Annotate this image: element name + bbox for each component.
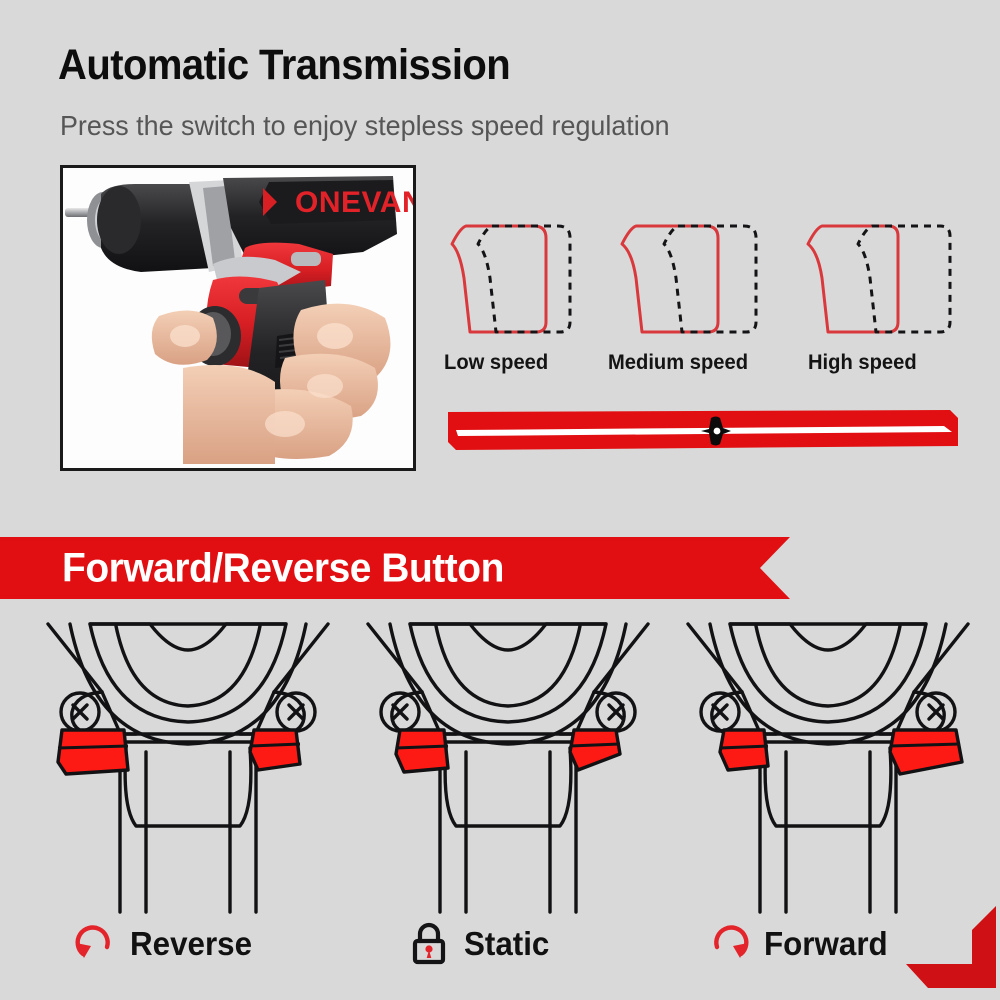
speed-label-low: Low speed xyxy=(444,352,548,373)
tool-diagram-reverse xyxy=(28,612,348,922)
legend-label-static: Static xyxy=(464,927,549,960)
trigger-diagram-medium xyxy=(610,218,780,348)
legend-label-reverse: Reverse xyxy=(130,927,252,960)
speed-label-high: High speed xyxy=(808,352,917,373)
speed-label-medium: Medium speed xyxy=(608,352,748,373)
direction-button-left xyxy=(720,730,768,770)
direction-button-left xyxy=(396,730,448,772)
legend-reverse: Reverse xyxy=(72,912,258,974)
direction-button-right xyxy=(250,730,300,770)
direction-button-left xyxy=(58,730,128,774)
trigger-diagram-high xyxy=(800,218,970,348)
product-photo: ONEVAN CE xyxy=(60,165,416,471)
page-title: Automatic Transmission xyxy=(58,44,510,87)
svg-text:ONEVAN: ONEVAN xyxy=(295,186,413,219)
tool-diagram-forward xyxy=(668,612,988,922)
banner-title: Forward/Reverse Button xyxy=(62,548,504,589)
direction-diagrams xyxy=(0,612,1000,922)
legend-static: Static xyxy=(406,912,554,974)
lock-icon xyxy=(406,920,452,966)
rotate-ccw-icon xyxy=(72,920,118,966)
rotate-cw-icon xyxy=(706,920,752,966)
legend-label-forward: Forward xyxy=(764,927,888,960)
trigger-diagram-low xyxy=(430,218,600,348)
legend-forward: Forward xyxy=(706,912,894,974)
infographic-page: Automatic Transmission Press the switch … xyxy=(0,0,1000,1000)
direction-button-right xyxy=(570,730,620,770)
direction-button-right xyxy=(890,730,962,774)
section-banner: Forward/Reverse Button xyxy=(0,537,790,599)
corner-arrow-icon xyxy=(900,902,1000,994)
tool-diagram-static xyxy=(348,612,668,922)
speed-slider[interactable] xyxy=(448,408,958,452)
page-subtitle: Press the switch to enjoy stepless speed… xyxy=(60,112,670,140)
